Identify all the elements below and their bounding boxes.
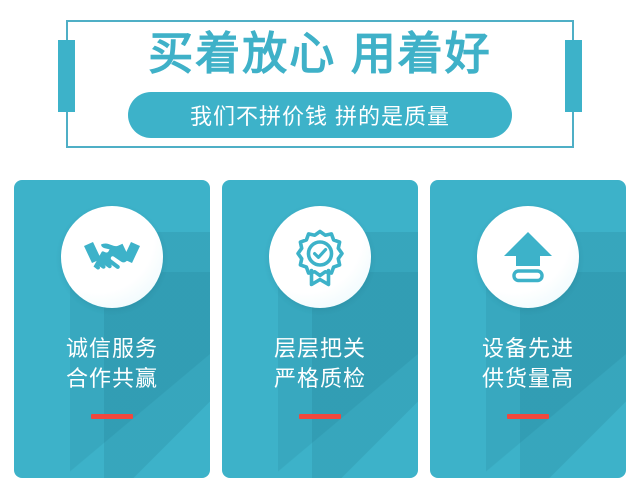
feature-card-line2: 严格质检 — [274, 364, 366, 394]
banner-title: 买着放心 用着好 — [0, 25, 640, 83]
feature-card-rule — [299, 414, 341, 419]
feature-card[interactable]: 设备先进 供货量高 — [430, 180, 626, 478]
banner-subtitle: 我们不拼价钱 拼的是质量 — [190, 99, 450, 131]
icon-circle — [477, 206, 579, 308]
icon-circle — [61, 206, 163, 308]
feature-card-text: 诚信服务 合作共赢 — [66, 334, 158, 394]
banner-subtitle-pill: 我们不拼价钱 拼的是质量 — [128, 92, 512, 138]
promo-banner: 买着放心 用着好 我们不拼价钱 拼的是质量 — [0, 0, 640, 491]
handshake-icon — [82, 232, 142, 282]
feature-card-line2: 合作共赢 — [66, 364, 158, 394]
banner-header: 买着放心 用着好 我们不拼价钱 拼的是质量 — [0, 0, 640, 172]
quality-badge-icon — [292, 227, 348, 287]
feature-card-text: 设备先进 供货量高 — [482, 334, 574, 394]
upload-arrow-icon — [499, 229, 557, 285]
feature-card[interactable]: 层层把关 严格质检 — [222, 180, 418, 478]
feature-card-line1: 层层把关 — [274, 334, 366, 364]
feature-card-text: 层层把关 严格质检 — [274, 334, 366, 394]
feature-card-line1: 设备先进 — [482, 334, 574, 364]
feature-card-rule — [507, 414, 549, 419]
feature-card-line1: 诚信服务 — [66, 334, 158, 364]
feature-card-line2: 供货量高 — [482, 364, 574, 394]
feature-card-rule — [91, 414, 133, 419]
feature-card[interactable]: 诚信服务 合作共赢 — [14, 180, 210, 478]
icon-circle — [269, 206, 371, 308]
feature-card-list: 诚信服务 合作共赢 — [14, 180, 626, 478]
